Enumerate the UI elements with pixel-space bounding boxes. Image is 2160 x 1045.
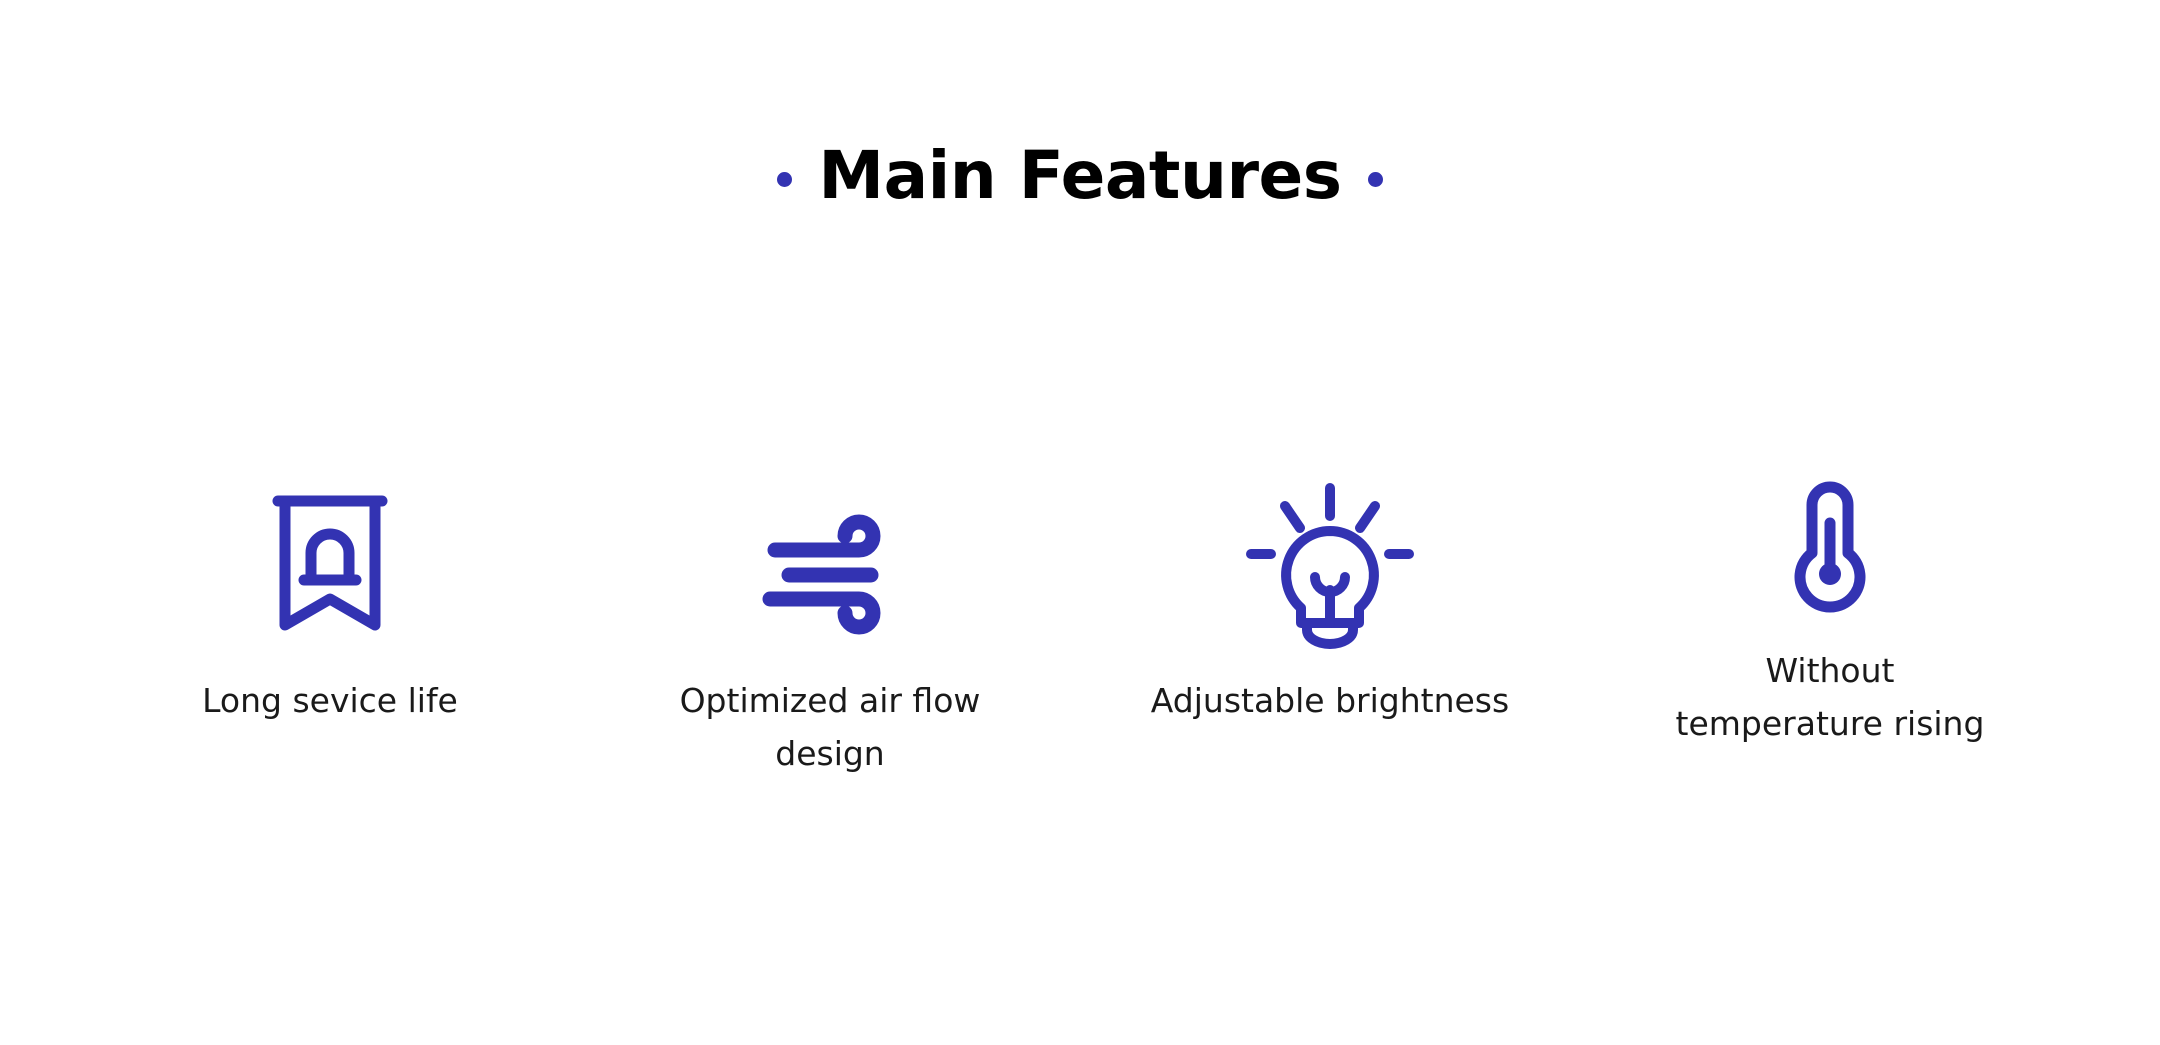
feature-label: Adjustable brightness — [1151, 674, 1509, 727]
feature-label: Long sevice life — [202, 674, 458, 727]
page-title: Main Features — [0, 140, 2160, 213]
feature-item-brightness: Adjustable brightness — [1080, 455, 1580, 727]
lightbulb-icon — [1247, 455, 1413, 670]
page-title-text: Main Features — [818, 140, 1341, 213]
feature-list: Long sevice life Optimized air flow desi… — [0, 455, 2160, 781]
thermometer-icon — [1778, 455, 1882, 640]
title-right-dot-icon — [1368, 172, 1383, 187]
feature-item-long-service-life: Long sevice life — [80, 455, 580, 727]
title-left-dot-icon — [777, 172, 792, 187]
feature-label: Optimized air flow design — [630, 674, 1030, 781]
wind-airflow-icon — [766, 455, 894, 670]
slide-canvas: Main Features Long sevice life — [0, 0, 2160, 1045]
bookmark-banner-icon — [271, 455, 389, 670]
feature-label: Without temperature rising — [1665, 644, 1995, 751]
feature-item-air-flow: Optimized air flow design — [580, 455, 1080, 781]
feature-item-no-temperature-rise: Without temperature rising — [1580, 455, 2080, 751]
